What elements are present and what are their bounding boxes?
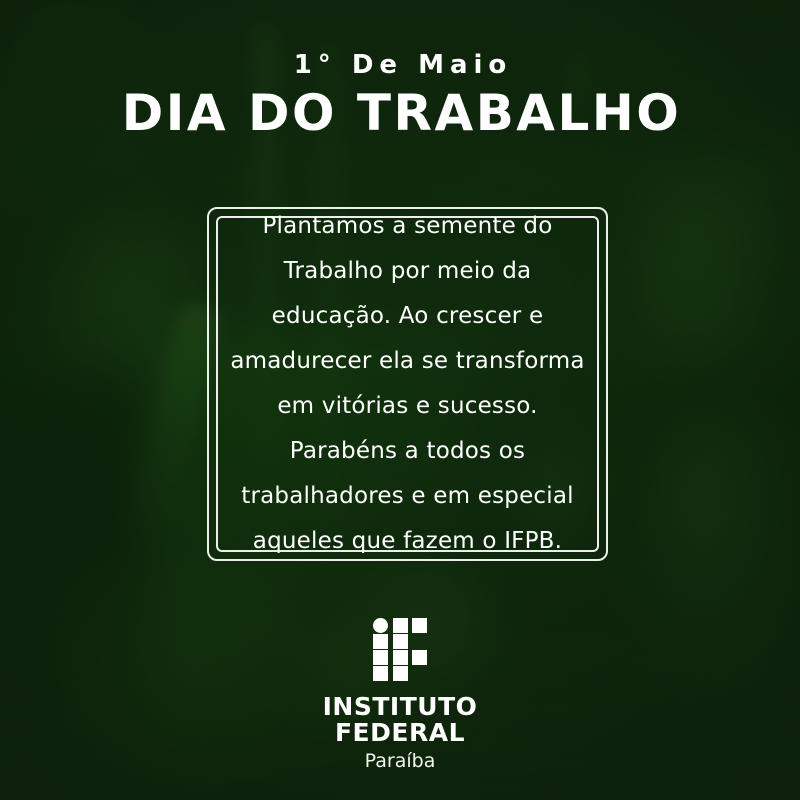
header: 1° De Maio DIA DO TRABALHO xyxy=(0,52,800,138)
header-eyebrow: 1° De Maio xyxy=(0,52,800,78)
logo-line-instituto: INSTITUTO xyxy=(323,694,478,720)
quote-line: Parabéns a todos os xyxy=(290,429,525,474)
ifpb-logo-wordmark: INSTITUTO FEDERAL Paraíba xyxy=(323,694,478,774)
logo-cell-square xyxy=(393,650,408,665)
quote-line: Trabalho por meio da xyxy=(284,249,532,294)
ifpb-logo: INSTITUTO FEDERAL Paraíba xyxy=(0,618,800,774)
logo-cell-square xyxy=(393,666,408,681)
quote-line: Plantamos a semente do xyxy=(262,204,552,249)
quote-line: educação. Ao crescer e xyxy=(272,294,544,339)
logo-cell-square xyxy=(412,618,427,633)
poster-canvas: 1° De Maio DIA DO TRABALHO Plantamos a s… xyxy=(0,0,800,800)
logo-cell-square xyxy=(393,618,408,633)
quote-line: amadurecer ela se transforma xyxy=(230,339,584,384)
logo-line-federal: FEDERAL xyxy=(323,720,478,746)
logo-cell-square xyxy=(412,650,427,665)
quote-line: trabalhadores e em especial xyxy=(241,474,574,519)
quote-text: Plantamos a semente do Trabalho por meio… xyxy=(228,228,587,540)
logo-cell-square xyxy=(373,634,388,649)
quote-line: em vitórias e sucesso. xyxy=(277,384,537,429)
logo-cell-square xyxy=(393,634,408,649)
page-title: DIA DO TRABALHO xyxy=(0,88,800,138)
logo-cell-square xyxy=(373,666,388,681)
logo-cell-square xyxy=(373,650,388,665)
ifpb-logo-mark-icon xyxy=(373,618,427,682)
logo-cell-circle xyxy=(373,618,388,633)
logo-line-paraiba: Paraíba xyxy=(323,748,478,774)
quote-line: aqueles que fazem o IFPB. xyxy=(253,519,562,564)
